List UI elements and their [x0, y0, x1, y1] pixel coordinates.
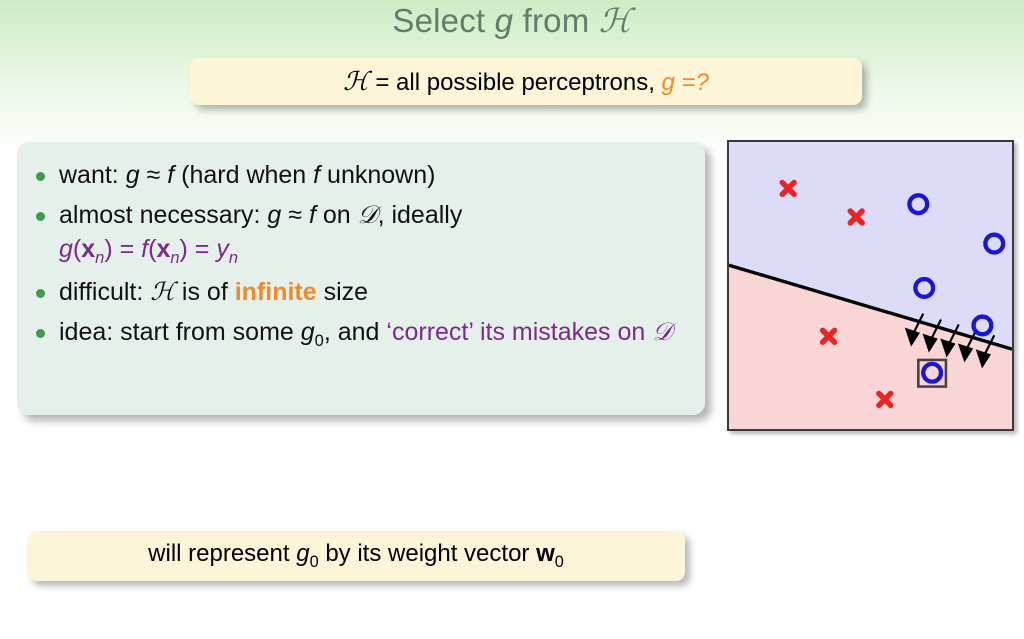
bullet-idea-label: idea: — [59, 318, 120, 346]
title-pre: Select — [392, 2, 494, 39]
bottom-banner-g: g — [296, 540, 309, 567]
bottom-banner: will represent g0 by its weight vector w… — [27, 531, 685, 581]
bullet-difficult-emphasis: infinite — [235, 278, 317, 306]
bullet-idea-highlight: ‘correct’ its mistakes on 𝒟 — [386, 318, 672, 346]
bullet-idea: idea: start from some g0, and ‘correct’ … — [59, 316, 685, 352]
bullet-almost-necessary: almost necessary: g ≈ f on 𝒟, ideally g(… — [59, 199, 685, 270]
content-box: want: g ≈ f (hard when f unknown) almost… — [17, 142, 705, 415]
hypothesis-set-symbol: ℋ — [343, 67, 369, 97]
bottom-banner-sub2: 0 — [555, 553, 564, 571]
equals-sign: = — [369, 69, 396, 96]
bottom-banner-w: w — [536, 540, 555, 567]
perceptron-diagram — [727, 140, 1014, 431]
top-banner-text: all possible perceptrons, — [396, 69, 661, 96]
title-g-symbol: g — [495, 2, 514, 39]
top-banner: ℋ = all possible perceptrons, g =? — [190, 58, 862, 105]
bottom-banner-mid: by its weight vector — [319, 540, 536, 567]
top-banner-highlight: g =? — [662, 69, 709, 96]
title-h-symbol: ℋ — [599, 1, 632, 40]
bottom-banner-sub1: 0 — [310, 553, 319, 571]
bottom-banner-pre: will represent — [148, 540, 296, 567]
bullet-want-label: want: — [59, 161, 126, 189]
page-title: Select g from ℋ — [0, 1, 1024, 40]
bullet-difficult: difficult: ℋ is of infinite size — [59, 276, 685, 309]
diagram-canvas — [729, 142, 1012, 429]
bullet-want: want: g ≈ f (hard when f unknown) — [59, 159, 685, 192]
title-mid: from — [513, 2, 599, 39]
bullet-necessary-equation: g(xn) = f(xn) = yn — [59, 233, 685, 269]
bullet-necessary-label: almost necessary: — [59, 201, 267, 229]
bullet-difficult-label: difficult: — [59, 278, 150, 306]
bullet-list: want: g ≈ f (hard when f unknown) almost… — [17, 142, 705, 352]
